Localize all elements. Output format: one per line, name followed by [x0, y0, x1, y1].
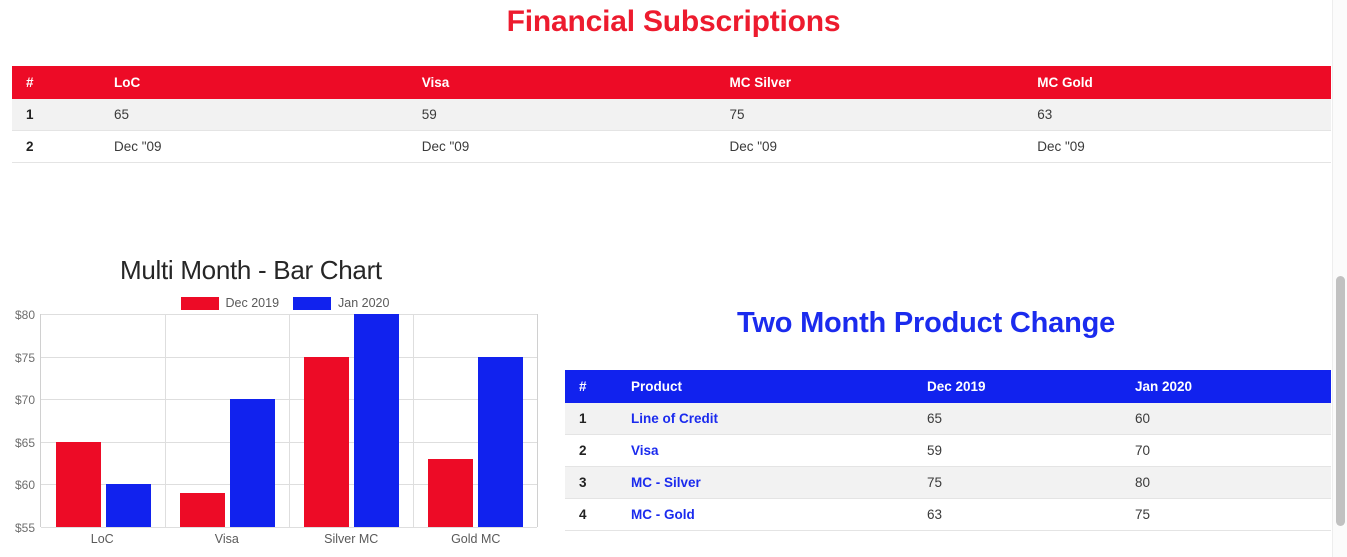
legend-swatch-icon — [181, 297, 219, 310]
x-axis-tick-label: Gold MC — [414, 527, 539, 551]
cell-visa: Dec "09 — [408, 131, 716, 163]
x-axis-tick-label: Silver MC — [289, 527, 414, 551]
row-index: 2 — [12, 131, 100, 163]
bar-chart-panel: Multi Month - Bar Chart Dec 2019 Jan 202… — [0, 248, 560, 557]
bar-dec-2019[interactable] — [56, 442, 101, 527]
cell-jan-2020: 60 — [1121, 403, 1331, 435]
table-row: 3 MC - Silver 75 80 — [565, 467, 1331, 499]
bar-jan-2020[interactable] — [354, 314, 399, 527]
product-link[interactable]: MC - Gold — [617, 499, 913, 531]
x-axis-tick-label: LoC — [40, 527, 165, 551]
product-link[interactable]: MC - Silver — [617, 467, 913, 499]
bar-group-gold-mc — [413, 314, 537, 527]
bar-chart-plot-area: $80 $75 $70 $65 $60 $55 — [40, 314, 538, 527]
table-row: 2 Dec "09 Dec "09 Dec "09 Dec "09 — [12, 131, 1331, 163]
y-axis-tick-label: $60 — [15, 478, 35, 492]
table-header-row: # Product Dec 2019 Jan 2020 — [565, 370, 1331, 403]
cell-dec-2019: 59 — [913, 435, 1121, 467]
legend-swatch-icon — [293, 297, 331, 310]
row-index: 3 — [565, 467, 617, 499]
bar-dec-2019[interactable] — [304, 357, 349, 527]
cell-mc-silver: Dec "09 — [716, 131, 1024, 163]
bar-group-silver-mc — [289, 314, 413, 527]
y-axis-tick-label: $80 — [15, 308, 35, 322]
table-row: 2 Visa 59 70 — [565, 435, 1331, 467]
cell-mc-silver: 75 — [716, 99, 1024, 131]
product-change-table: # Product Dec 2019 Jan 2020 1 Line of Cr… — [565, 370, 1331, 531]
column-header-index[interactable]: # — [565, 370, 617, 403]
financial-subscriptions-table-container: # LoC Visa MC Silver MC Gold 1 65 59 75 … — [12, 66, 1331, 163]
row-index: 2 — [565, 435, 617, 467]
bar-group-loc — [41, 314, 165, 527]
bar-dec-2019[interactable] — [428, 459, 473, 527]
row-index: 4 — [565, 499, 617, 531]
bar-group-visa — [165, 314, 289, 527]
bar-chart-title: Multi Month - Bar Chart — [0, 248, 560, 292]
financial-subscriptions-table: # LoC Visa MC Silver MC Gold 1 65 59 75 … — [12, 66, 1331, 163]
column-header-visa[interactable]: Visa — [408, 66, 716, 99]
cell-loc: Dec "09 — [100, 131, 408, 163]
bar-groups — [41, 314, 537, 527]
cell-jan-2020: 80 — [1121, 467, 1331, 499]
bar-jan-2020[interactable] — [478, 357, 523, 527]
two-month-product-change-title: Two Month Product Change — [565, 300, 1331, 346]
bar-chart-legend: Dec 2019 Jan 2020 — [0, 292, 560, 314]
page-title: Financial Subscriptions — [0, 0, 1347, 40]
x-axis-tick-label: Visa — [165, 527, 290, 551]
legend-label: Jan 2020 — [338, 296, 389, 310]
cell-dec-2019: 75 — [913, 467, 1121, 499]
table-row: 1 Line of Credit 65 60 — [565, 403, 1331, 435]
cell-jan-2020: 70 — [1121, 435, 1331, 467]
column-header-dec-2019[interactable]: Dec 2019 — [913, 370, 1121, 403]
legend-label: Dec 2019 — [226, 296, 280, 310]
table-row: 4 MC - Gold 63 75 — [565, 499, 1331, 531]
table-row: 1 65 59 75 63 — [12, 99, 1331, 131]
cell-loc: 65 — [100, 99, 408, 131]
product-link[interactable]: Line of Credit — [617, 403, 913, 435]
cell-mc-gold: Dec "09 — [1023, 131, 1331, 163]
cell-mc-gold: 63 — [1023, 99, 1331, 131]
column-header-loc[interactable]: LoC — [100, 66, 408, 99]
y-axis-tick-label: $75 — [15, 351, 35, 365]
legend-entry-jan-2020[interactable]: Jan 2020 — [293, 296, 389, 310]
column-header-jan-2020[interactable]: Jan 2020 — [1121, 370, 1331, 403]
vertical-scrollbar-thumb[interactable] — [1336, 276, 1345, 526]
gridline: $55 — [41, 527, 537, 528]
column-header-mc-gold[interactable]: MC Gold — [1023, 66, 1331, 99]
bar-dec-2019[interactable] — [180, 493, 225, 527]
legend-entry-dec-2019[interactable]: Dec 2019 — [181, 296, 280, 310]
table-body: 1 Line of Credit 65 60 2 Visa 59 70 3 MC… — [565, 403, 1331, 531]
bar-jan-2020[interactable] — [106, 484, 151, 527]
column-header-index[interactable]: # — [12, 66, 100, 99]
column-header-product[interactable]: Product — [617, 370, 913, 403]
y-axis-tick-label: $70 — [15, 393, 35, 407]
table-body: 1 65 59 75 63 2 Dec "09 Dec "09 Dec "09 … — [12, 99, 1331, 163]
row-index: 1 — [12, 99, 100, 131]
column-header-mc-silver[interactable]: MC Silver — [716, 66, 1024, 99]
cell-visa: 59 — [408, 99, 716, 131]
product-link[interactable]: Visa — [617, 435, 913, 467]
x-axis-labels: LoC Visa Silver MC Gold MC — [40, 527, 538, 551]
y-axis-tick-label: $55 — [15, 521, 35, 535]
two-month-product-change-panel: Two Month Product Change # Product Dec 2… — [565, 300, 1331, 531]
cell-jan-2020: 75 — [1121, 499, 1331, 531]
row-index: 1 — [565, 403, 617, 435]
table-header: # Product Dec 2019 Jan 2020 — [565, 370, 1331, 403]
table-header-row: # LoC Visa MC Silver MC Gold — [12, 66, 1331, 99]
cell-dec-2019: 65 — [913, 403, 1121, 435]
y-axis-tick-label: $65 — [15, 436, 35, 450]
cell-dec-2019: 63 — [913, 499, 1121, 531]
vertical-scrollbar[interactable] — [1332, 0, 1347, 557]
bar-jan-2020[interactable] — [230, 399, 275, 527]
table-header: # LoC Visa MC Silver MC Gold — [12, 66, 1331, 99]
